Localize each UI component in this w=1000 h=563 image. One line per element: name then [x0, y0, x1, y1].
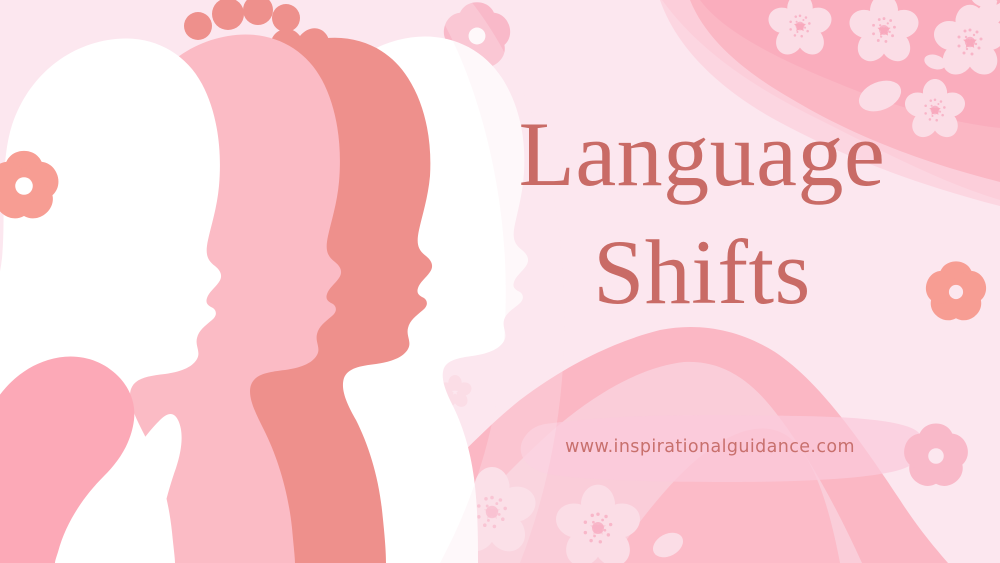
text-layer: Language Shifts www.inspirationalguidanc… — [0, 0, 1000, 563]
slide-canvas: Language Shifts www.inspirationalguidanc… — [0, 0, 1000, 563]
page-title: Language Shifts — [452, 96, 952, 332]
title-line-two: Shifts — [452, 214, 952, 332]
website-url-text[interactable]: www.inspirationalguidance.com — [565, 437, 855, 457]
website-url-block: www.inspirationalguidance.com — [500, 437, 920, 457]
title-line-one: Language — [452, 96, 952, 214]
